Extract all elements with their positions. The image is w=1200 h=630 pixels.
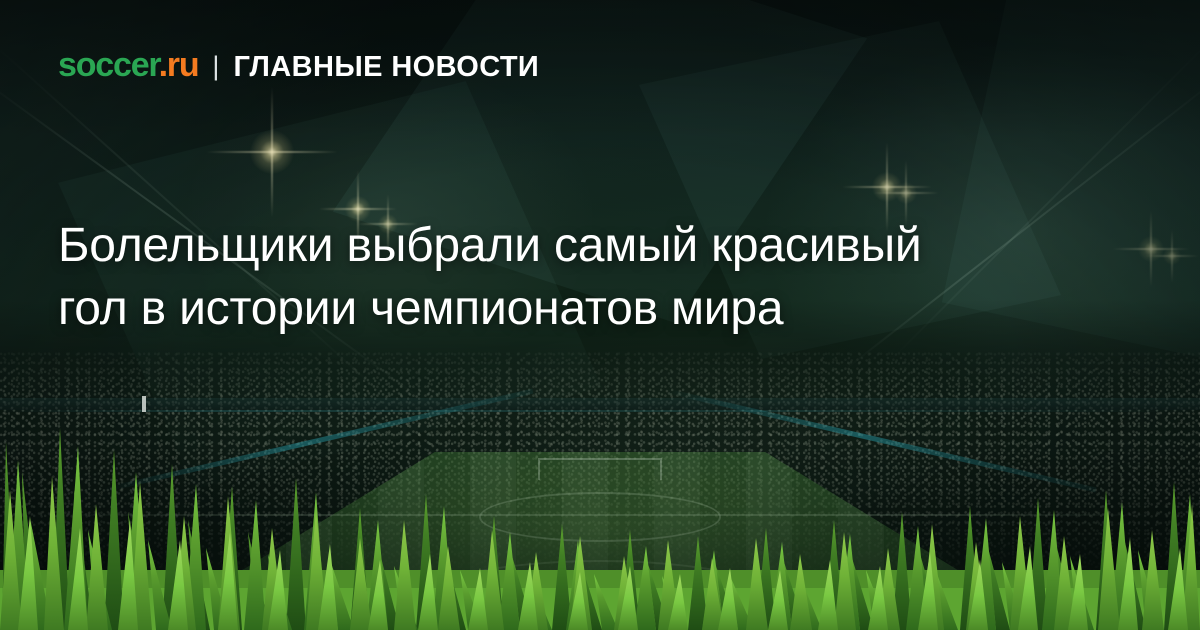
grass-svg <box>0 420 1200 630</box>
logo-tld: .ru <box>159 46 199 84</box>
share-card: soccer.ru | ГЛАВНЫЕ НОВОСТИ Болельщики в… <box>0 0 1200 630</box>
grass-foreground <box>0 420 1200 630</box>
brand-bar: soccer.ru | ГЛАВНЫЕ НОВОСТИ <box>58 48 539 82</box>
logo-name: soccer <box>58 46 159 84</box>
site-logo[interactable]: soccer.ru <box>58 48 198 82</box>
brand-separator: | <box>212 53 219 80</box>
page-title: Болельщики выбрали самый красивый гол в … <box>58 214 988 341</box>
section-kicker: ГЛАВНЫЕ НОВОСТИ <box>233 53 539 82</box>
